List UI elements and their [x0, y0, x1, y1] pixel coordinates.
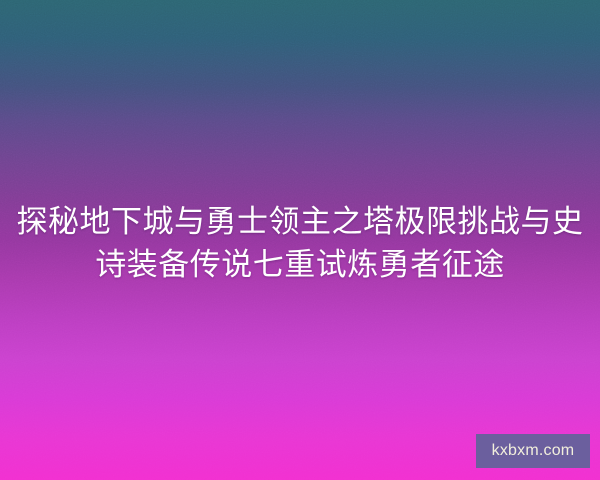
- page-title: 探秘地下城与勇士领主之塔极限挑战与史 诗装备传说七重试炼勇者征途: [0, 200, 600, 286]
- image-canvas: 探秘地下城与勇士领主之塔极限挑战与史 诗装备传说七重试炼勇者征途 kxbxm.c…: [0, 0, 600, 480]
- title-line-1: 探秘地下城与勇士领主之塔极限挑战与史: [14, 200, 586, 243]
- watermark-label: kxbxm.com: [492, 443, 575, 459]
- watermark-badge: kxbxm.com: [476, 434, 590, 468]
- title-line-2: 诗装备传说七重试炼勇者征途: [14, 243, 586, 286]
